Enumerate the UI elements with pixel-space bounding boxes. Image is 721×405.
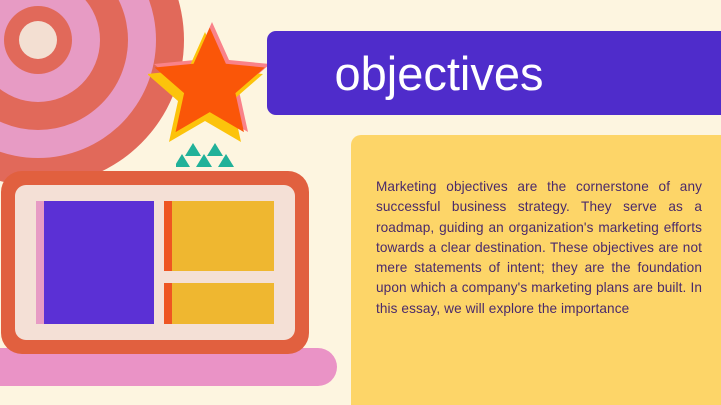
triangle-cluster-decoration xyxy=(176,141,244,169)
body-card: Marketing objectives are the cornerstone… xyxy=(351,135,721,405)
page-title: objectives xyxy=(335,50,544,97)
star-icon xyxy=(148,18,272,142)
title-bar: objectives xyxy=(267,31,721,115)
layered-stars-decoration xyxy=(148,18,272,142)
triangles-icon xyxy=(176,141,244,169)
body-paragraph: Marketing objectives are the cornerstone… xyxy=(376,177,702,319)
concentric-rings-icon xyxy=(0,0,184,186)
laptop-illustration xyxy=(0,170,345,388)
slide-canvas: objectives Marketing objectives are the … xyxy=(0,0,721,405)
concentric-rings-decoration xyxy=(0,0,184,186)
laptop-icon xyxy=(0,170,345,388)
